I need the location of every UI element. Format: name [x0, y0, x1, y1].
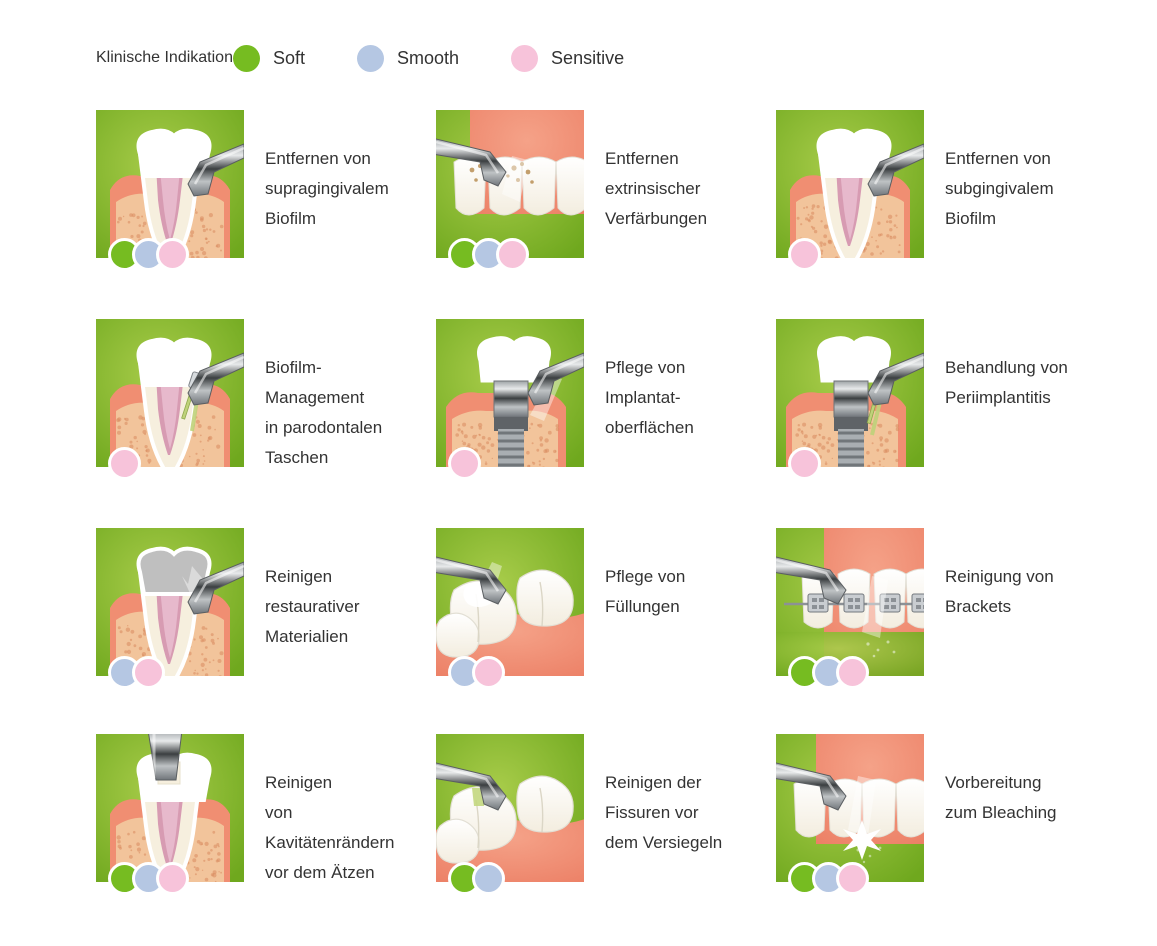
- indication-caption: Reinigen der Fissuren vor dem Versiegeln: [605, 768, 722, 858]
- legend-swatch-sensitive-icon: [511, 45, 538, 72]
- dot-sensitive-icon: [836, 862, 869, 895]
- indication-dots: [448, 654, 505, 690]
- indication-illustration: [436, 110, 584, 258]
- indication-card[interactable]: Entfernen von supragingivalem Biofilm: [96, 110, 436, 319]
- dot-sensitive-icon: [156, 238, 189, 271]
- legend-item-smooth: Smooth: [357, 45, 459, 72]
- indication-card[interactable]: Reinigen restaurativer Materialien: [96, 528, 436, 734]
- indication-caption: Reinigung von Brackets: [945, 562, 1054, 622]
- dot-sensitive-icon: [448, 447, 481, 480]
- legend: Soft Smooth Sensitive: [233, 45, 676, 72]
- indication-illustration: [96, 528, 244, 676]
- dot-sensitive-icon: [496, 238, 529, 271]
- dot-sensitive-icon: [156, 862, 189, 895]
- indication-card[interactable]: Reinigen der Fissuren vor dem Versiegeln: [436, 734, 776, 940]
- indication-card[interactable]: Entfernen von subgingivalem Biofilm: [776, 110, 1116, 319]
- indication-illustration: [776, 319, 924, 467]
- indication-caption: Entfernen von subgingivalem Biofilm: [945, 144, 1054, 234]
- indication-illustration: [776, 734, 924, 882]
- indication-dots: [788, 236, 821, 272]
- indication-card[interactable]: Pflege von Füllungen: [436, 528, 776, 734]
- legend-label-smooth: Smooth: [397, 48, 459, 69]
- indication-dots: [448, 445, 481, 481]
- dot-sensitive-icon: [472, 656, 505, 689]
- indication-dots: [108, 654, 165, 690]
- indication-dots: [108, 860, 189, 896]
- indication-dots: [788, 860, 869, 896]
- indication-card[interactable]: Reinigen von Kavitätenrändern vor dem Ät…: [96, 734, 436, 940]
- legend-swatch-soft-icon: [233, 45, 260, 72]
- indication-caption: Biofilm- Management in parodontalen Tasc…: [265, 353, 382, 473]
- legend-label-sensitive: Sensitive: [551, 48, 624, 69]
- indication-illustration: [436, 528, 584, 676]
- indication-caption: Behandlung von Periimplantitis: [945, 353, 1068, 413]
- indication-caption: Vorbereitung zum Bleaching: [945, 768, 1057, 828]
- indication-illustration: [776, 528, 924, 676]
- indication-dots: [788, 654, 869, 690]
- indication-caption: Pflege von Implantat- oberflächen: [605, 353, 694, 443]
- page-header: Klinische Indikation Soft Smooth Sensiti…: [96, 36, 1096, 80]
- indication-dots: [108, 445, 141, 481]
- dot-sensitive-icon: [132, 656, 165, 689]
- dot-smooth-icon: [472, 862, 505, 895]
- legend-item-soft: Soft: [233, 45, 305, 72]
- indication-illustration: [776, 110, 924, 258]
- indication-illustration: [96, 734, 244, 882]
- indication-card[interactable]: Biofilm- Management in parodontalen Tasc…: [96, 319, 436, 528]
- indication-dots: [108, 236, 189, 272]
- indication-illustration: [436, 734, 584, 882]
- indication-illustration: [96, 319, 244, 467]
- indication-caption: Reinigen von Kavitätenrändern vor dem Ät…: [265, 768, 394, 888]
- indication-illustration: [96, 110, 244, 258]
- indication-dots: [448, 236, 529, 272]
- indication-illustration: [436, 319, 584, 467]
- indication-dots: [788, 445, 821, 481]
- indication-caption: Reinigen restaurativer Materialien: [265, 562, 359, 652]
- dot-sensitive-icon: [836, 656, 869, 689]
- page-title: Klinische Indikation: [96, 49, 233, 67]
- indication-caption: Entfernen von supragingivalem Biofilm: [265, 144, 389, 234]
- indication-card[interactable]: Reinigung von Brackets: [776, 528, 1116, 734]
- indication-card[interactable]: Vorbereitung zum Bleaching: [776, 734, 1116, 940]
- indication-caption: Pflege von Füllungen: [605, 562, 685, 622]
- dot-sensitive-icon: [788, 238, 821, 271]
- legend-label-soft: Soft: [273, 48, 305, 69]
- indication-card[interactable]: Entfernen extrinsischer Verfärbungen: [436, 110, 776, 319]
- indication-caption: Entfernen extrinsischer Verfärbungen: [605, 144, 707, 234]
- indication-dots: [448, 860, 505, 896]
- indication-card[interactable]: Pflege von Implantat- oberflächen: [436, 319, 776, 528]
- legend-swatch-smooth-icon: [357, 45, 384, 72]
- indication-card[interactable]: Behandlung von Periimplantitis: [776, 319, 1116, 528]
- legend-item-sensitive: Sensitive: [511, 45, 624, 72]
- dot-sensitive-icon: [108, 447, 141, 480]
- indication-grid: Entfernen von supragingivalem Biofilm: [96, 110, 1116, 940]
- dot-sensitive-icon: [788, 447, 821, 480]
